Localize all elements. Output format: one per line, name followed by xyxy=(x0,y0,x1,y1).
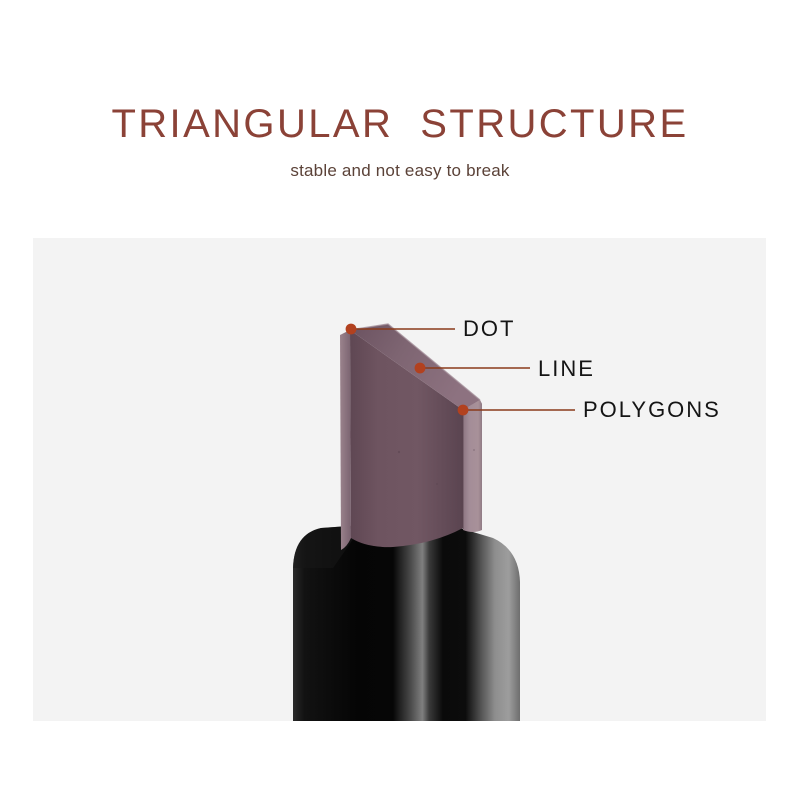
callout-dot-dot xyxy=(346,324,357,335)
callout-dot-polygons xyxy=(458,405,469,416)
callout-label-line: LINE xyxy=(538,358,595,380)
callout-dot-line xyxy=(415,363,426,374)
product-photo-panel: DOT LINE POLYGONS xyxy=(33,238,766,721)
pencil-tip xyxy=(340,324,482,550)
tip-left-edge-face xyxy=(340,330,351,550)
tip-speckle xyxy=(398,451,400,453)
product-illustration xyxy=(33,238,766,721)
tip-right-face xyxy=(463,400,482,532)
page-subtitle: stable and not easy to break xyxy=(0,161,800,181)
tip-speckle xyxy=(436,483,438,485)
header: TRIANGULAR STRUCTURE stable and not easy… xyxy=(0,104,800,181)
page-title: TRIANGULAR STRUCTURE xyxy=(0,104,800,144)
pencil-barrel xyxy=(293,520,520,721)
product-photo-stage: DOT LINE POLYGONS xyxy=(33,238,766,721)
callout-label-polygons: POLYGONS xyxy=(583,399,721,421)
page-root: TRIANGULAR STRUCTURE stable and not easy… xyxy=(0,0,800,800)
callout-label-dot: DOT xyxy=(463,318,515,340)
tip-speckle xyxy=(473,449,475,451)
